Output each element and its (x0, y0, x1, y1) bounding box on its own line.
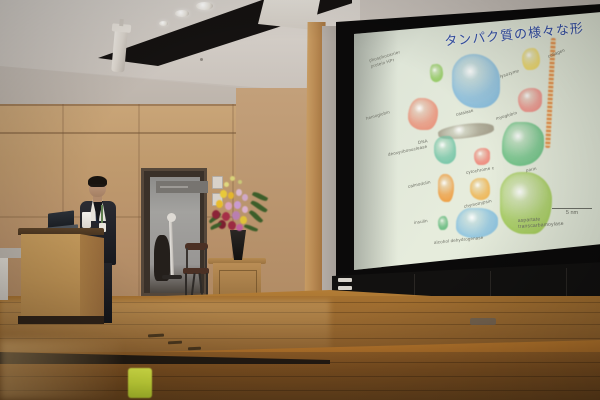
lecture-hall-photo: タンパク質の様々な形 phosphocarrierprotein HPrhemo… (0, 0, 600, 400)
molecule-label: myoglobin (495, 110, 517, 121)
molecule-shape (518, 88, 542, 112)
molecule-chymotrypsin (470, 178, 490, 200)
molecule-lysozyme (522, 48, 540, 70)
equipment-tag (338, 286, 352, 290)
molecule-shape (456, 208, 498, 238)
molecule-shape (522, 48, 540, 70)
molecule-label: lysozyme (499, 68, 519, 79)
molecule-shape (438, 216, 448, 230)
side-table (0, 252, 8, 300)
molecule-label: cytochrome c (466, 165, 495, 175)
molecule-label: calmodulin (407, 179, 431, 189)
alcove-interior (150, 177, 200, 293)
molecule-porin (502, 122, 544, 166)
molecule-deoxyribonuclease (434, 136, 456, 164)
molecule-shape (408, 98, 438, 130)
molecule-myoglobin (518, 88, 542, 112)
molecule-alcohol (456, 208, 498, 238)
folding-chair-icon (183, 243, 209, 299)
molecule-shape (434, 136, 456, 164)
glasses-icon (90, 184, 105, 187)
alcove-header-panel (156, 181, 208, 193)
molecule-shape (429, 63, 444, 83)
scale-bar: 5 nm (552, 208, 592, 216)
molecule-insulin (438, 216, 448, 230)
molecule-cytochrome (474, 148, 490, 165)
floor-outlet-plate (470, 318, 496, 325)
molecule-label: catalase (455, 108, 474, 117)
foreground-light-glow (0, 340, 120, 400)
molecule-catalase (452, 54, 500, 108)
mic-head-icon (167, 213, 176, 222)
mic-base (162, 275, 182, 279)
projection-screen: タンパク質の様々な形 phosphocarrierprotein HPrhemo… (352, 12, 600, 270)
door-alcove (141, 168, 207, 296)
molecule-hemoglobin (408, 98, 438, 130)
molecule-phosphocarrier (429, 63, 444, 83)
downlight-icon (196, 2, 213, 10)
molecule-label: insulin (414, 218, 428, 225)
downlight-icon (175, 10, 189, 17)
molecule-shape (474, 148, 490, 165)
foreground-green-object (128, 368, 152, 398)
molecule-calmodulin (438, 174, 454, 202)
molecule-shape (452, 54, 500, 108)
scale-bar-line (552, 208, 592, 209)
molecule-shape (502, 122, 544, 166)
molecule-shape (470, 178, 490, 200)
molecule-label: aspartatetranscarbamoylase (518, 214, 571, 230)
cup-icon (82, 212, 91, 228)
ceiling-fixture-dot (200, 58, 203, 61)
molecule-label: alcohol dehydrogenase (434, 235, 484, 245)
mic-stand-icon (169, 219, 174, 277)
floral-arrangement (206, 176, 268, 236)
scale-bar-label: 5 nm (552, 210, 592, 216)
molecule-shape (438, 174, 454, 202)
equipment-tag (338, 278, 352, 282)
podium (18, 228, 104, 324)
downlight-icon (159, 21, 168, 26)
